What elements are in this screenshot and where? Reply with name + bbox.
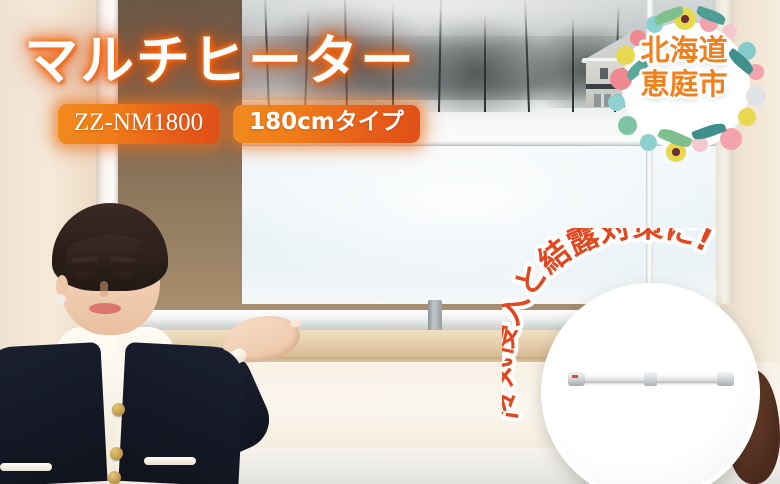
model-ear <box>56 275 68 297</box>
model-jacket-button <box>110 447 123 460</box>
model-eye <box>111 269 133 279</box>
heater-indicator <box>572 375 578 378</box>
spec-chip-group: ZZ-NM1800 180cmタイプ <box>58 104 420 144</box>
region-badge: 北海道 恵庭市 <box>596 8 772 168</box>
presenter-woman-icon <box>0 195 324 484</box>
heater-end-cap-left <box>568 372 585 386</box>
model-jacket-button <box>112 403 125 416</box>
chip-model-number: ZZ-NM1800 <box>58 104 219 144</box>
model-earring <box>57 295 65 303</box>
badge-line-prefecture: 北海道 <box>596 34 772 68</box>
model-nose <box>100 281 108 297</box>
promo-banner: マルチヒーター ZZ-NM1800 180cmタイプ <box>0 0 780 484</box>
model-jacket-button <box>108 471 121 484</box>
model-pocket-trim <box>144 457 196 465</box>
page-title: マルチヒーター <box>24 16 416 95</box>
chip-size-type: 180cmタイプ <box>233 105 420 143</box>
model-pocket-trim <box>0 463 52 471</box>
model-eye <box>74 269 96 279</box>
model-nail <box>289 318 303 329</box>
panel-heater-icon <box>568 372 734 386</box>
model-hair-bun <box>134 241 168 281</box>
heater-end-cap-right <box>717 372 734 386</box>
badge-text: 北海道 恵庭市 <box>596 34 772 101</box>
heater-center-bracket <box>644 372 657 386</box>
tree <box>484 12 486 112</box>
model-lips <box>89 303 121 314</box>
badge-line-city: 恵庭市 <box>596 68 772 102</box>
